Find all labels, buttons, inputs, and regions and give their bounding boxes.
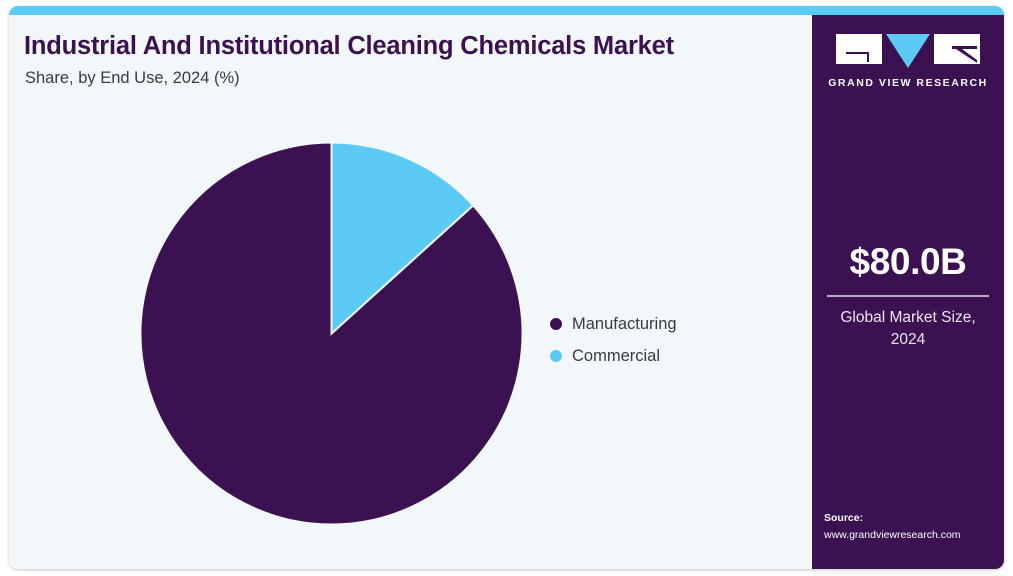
stat-divider xyxy=(827,295,989,297)
top-accent-bar xyxy=(9,6,1004,15)
legend-swatch-icon xyxy=(550,350,562,362)
source-block: Source: www.grandviewresearch.com xyxy=(824,510,1004,543)
source-label: Source: xyxy=(824,510,1004,526)
side-panel: GRAND VIEW RESEARCH $80.0B Global Market… xyxy=(812,15,1004,569)
chart-legend: Manufacturing Commercial xyxy=(550,308,780,372)
pie-chart xyxy=(136,138,527,529)
chart-card: Industrial And Institutional Cleaning Ch… xyxy=(9,6,1004,569)
market-size-value: $80.0B xyxy=(812,243,1004,282)
source-url[interactable]: www.grandviewresearch.com xyxy=(824,527,1004,543)
brand-logo-text: GRAND VIEW RESEARCH xyxy=(812,77,1004,89)
brand-logo: GRAND VIEW RESEARCH xyxy=(812,32,1004,89)
legend-label: Commercial xyxy=(572,347,660,366)
legend-item-manufacturing[interactable]: Manufacturing xyxy=(550,308,780,340)
legend-swatch-icon xyxy=(550,318,562,330)
gvr-logo-icon xyxy=(836,32,980,70)
legend-label: Manufacturing xyxy=(572,315,677,334)
page-title: Industrial And Institutional Cleaning Ch… xyxy=(24,32,674,61)
chart-pane: Industrial And Institutional Cleaning Ch… xyxy=(9,15,812,569)
pie-chart-svg xyxy=(136,138,527,529)
page-subtitle: Share, by End Use, 2024 (%) xyxy=(25,69,240,88)
market-size-stat: $80.0B Global Market Size, 2024 xyxy=(812,243,1004,352)
market-size-caption: Global Market Size, 2024 xyxy=(812,307,1004,352)
legend-item-commercial[interactable]: Commercial xyxy=(550,340,780,372)
